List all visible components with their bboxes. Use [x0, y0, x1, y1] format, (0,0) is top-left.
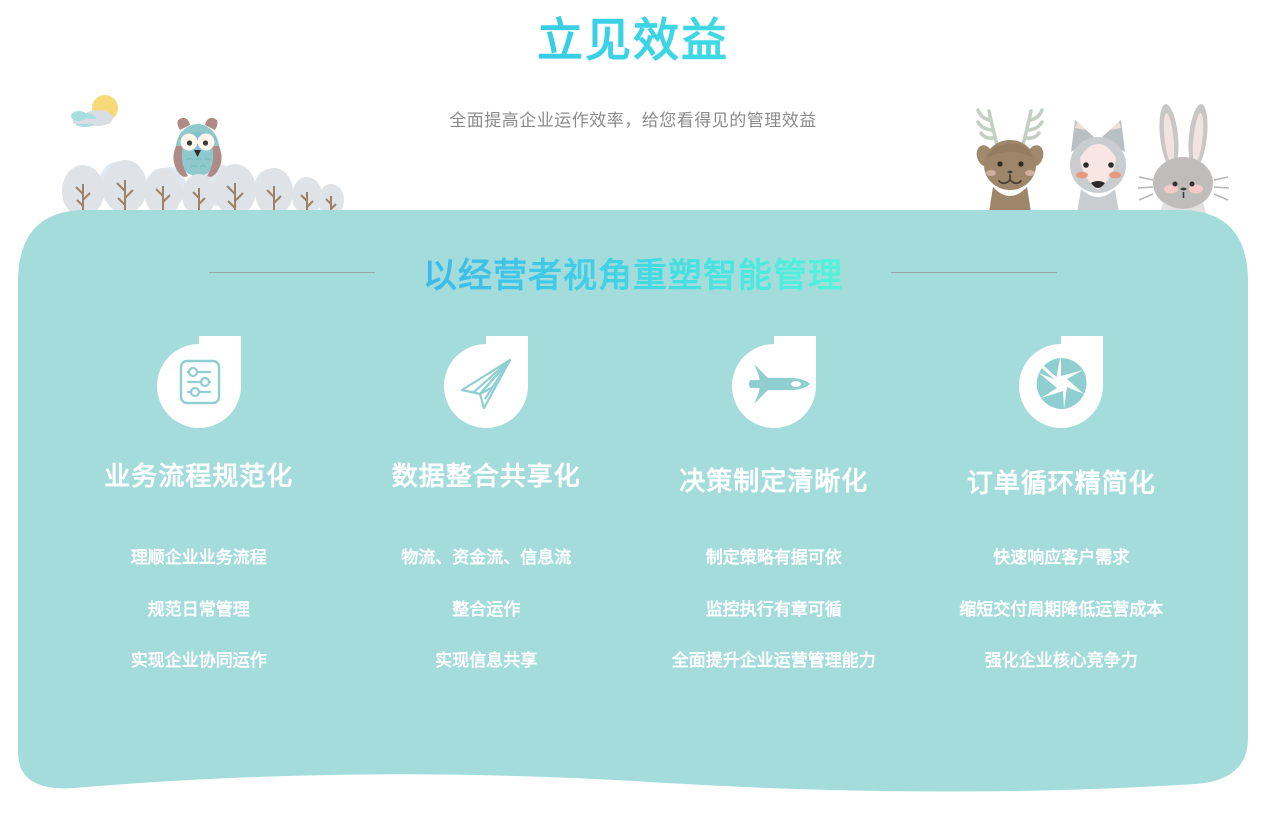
- feature-line: 整合运作: [401, 589, 571, 631]
- feature-line: 实现企业协同运作: [131, 640, 267, 682]
- space-shuttle-icon: [732, 336, 816, 428]
- feature-line: 快速响应客户需求: [959, 537, 1163, 579]
- feature-line: 理顺企业业务流程: [131, 537, 267, 579]
- feature-lines: 快速响应客户需求 缩短交付周期降低运营成本 强化企业核心竞争力: [959, 537, 1163, 682]
- feature-lines: 制定策略有据可依 监控执行有章可循 全面提升企业运营管理能力: [672, 537, 876, 682]
- feature-card-business-process[interactable]: 业务流程规范化 理顺企业业务流程 规范日常管理 实现企业协同运作: [55, 336, 343, 682]
- divider-left: [209, 272, 375, 273]
- feature-line: 强化企业核心竞争力: [959, 640, 1163, 682]
- feature-card-data-integration[interactable]: 数据整合共享化 物流、资金流、信息流 整合运作 实现信息共享: [343, 336, 631, 682]
- divider-right: [891, 272, 1057, 273]
- feature-title: 决策制定清晰化: [679, 461, 868, 498]
- feature-line: 缩短交付周期降低运营成本: [959, 589, 1163, 631]
- feature-line: 规范日常管理: [131, 589, 267, 631]
- feature-card-order-cycle[interactable]: 订单循环精简化 快速响应客户需求 缩短交付周期降低运营成本 强化企业核心竞争力: [918, 336, 1206, 682]
- feature-title: 业务流程规范化: [104, 456, 293, 493]
- paper-plane-icon: [444, 336, 528, 428]
- page-subtitle: 全面提高企业运作效率，给您看得见的管理效益: [0, 106, 1266, 131]
- feature-line: 全面提升企业运营管理能力: [672, 640, 876, 682]
- feature-title: 订单循环精简化: [967, 463, 1156, 500]
- feature-lines: 理顺企业业务流程 规范日常管理 实现企业协同运作: [131, 537, 267, 682]
- feature-line: 监控执行有章可循: [672, 589, 876, 631]
- page-title: 立见效益: [0, 12, 1266, 70]
- panel-content: 以经营者视角重塑智能管理 业务流程规范化 理顺企业业务流程: [0, 196, 1266, 826]
- feature-line: 制定策略有据可依: [672, 537, 876, 579]
- page-root: 立见效益 全面提高企业运作效率，给您看得见的管理效益: [0, 0, 1266, 826]
- feature-line: 物流、资金流、信息流: [401, 537, 571, 579]
- camera-aperture-icon: [1019, 336, 1103, 428]
- feature-columns: 业务流程规范化 理顺企业业务流程 规范日常管理 实现企业协同运作: [55, 336, 1205, 682]
- sliders-settings-icon: [157, 336, 241, 428]
- feature-title: 数据整合共享化: [392, 456, 581, 493]
- section-heading-row: 以经营者视角重塑智能管理: [0, 248, 1266, 297]
- feature-line: 实现信息共享: [401, 640, 571, 682]
- feature-lines: 物流、资金流、信息流 整合运作 实现信息共享: [401, 537, 571, 682]
- feature-card-decision-making[interactable]: 决策制定清晰化 制定策略有据可依 监控执行有章可循 全面提升企业运营管理能力: [630, 336, 918, 682]
- section-heading: 以经营者视角重塑智能管理: [423, 248, 843, 297]
